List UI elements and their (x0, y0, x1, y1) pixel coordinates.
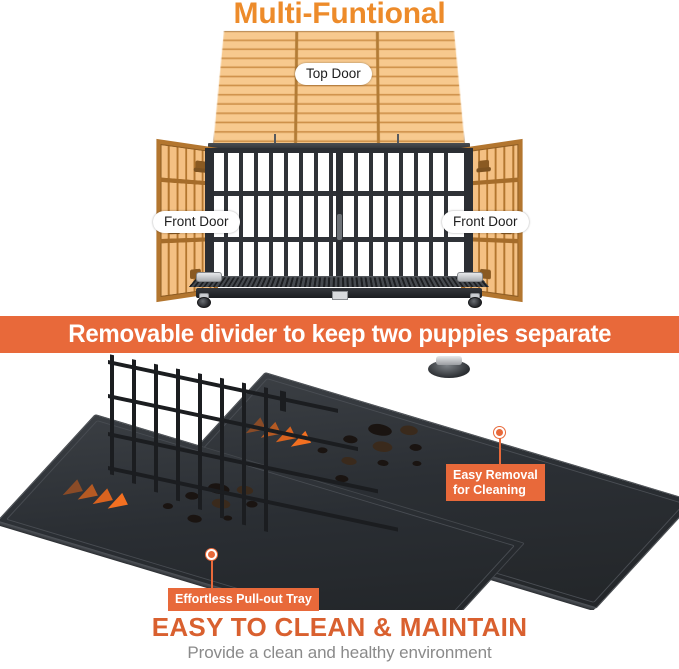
caster-wheel (197, 293, 211, 308)
label-front-door-right: Front Door (442, 211, 529, 233)
feature-banner-text: Removable divider to keep two puppies se… (68, 320, 611, 349)
base-clip (332, 291, 348, 300)
top-door-rail (294, 32, 298, 146)
center-latch (337, 214, 342, 240)
label-top-door: Top Door (295, 63, 372, 85)
top-product-section: Multi-Funtional (0, 0, 679, 315)
caster-wheel (468, 293, 482, 308)
wheel-mount (196, 272, 222, 282)
callout-pull-out-tray: Effortless Pull-out Tray (168, 588, 319, 611)
caster-wheel-top (428, 356, 470, 378)
top-door-panel (213, 31, 465, 147)
callout-easy-removal: Easy Removal for Cleaning (446, 464, 545, 501)
callout-dot-easy-removal (494, 427, 505, 438)
feature-banner: Removable divider to keep two puppies se… (0, 316, 679, 353)
page-title: Multi-Funtional (0, 0, 679, 29)
footer-title: EASY TO CLEAN & MAINTAIN (0, 612, 679, 642)
crate-floor-grate (189, 276, 489, 287)
callout-line-easy-removal (499, 436, 501, 464)
footer-subtitle: Provide a clean and healthy environment (0, 642, 679, 664)
bottom-product-section (0, 354, 679, 610)
crate-body (205, 148, 473, 280)
callout-line-pull-out-tray (211, 558, 213, 588)
crate-frame-fragment (108, 354, 408, 494)
top-door-rail (375, 32, 379, 146)
label-front-door-left: Front Door (153, 211, 240, 233)
callout-dot-pull-out-tray (206, 549, 217, 560)
footer-section: EASY TO CLEAN & MAINTAIN Provide a clean… (0, 612, 679, 669)
infographic-page: Multi-Funtional (0, 0, 679, 669)
dog-crate-illustration (0, 0, 679, 315)
wheel-mount (457, 272, 483, 282)
